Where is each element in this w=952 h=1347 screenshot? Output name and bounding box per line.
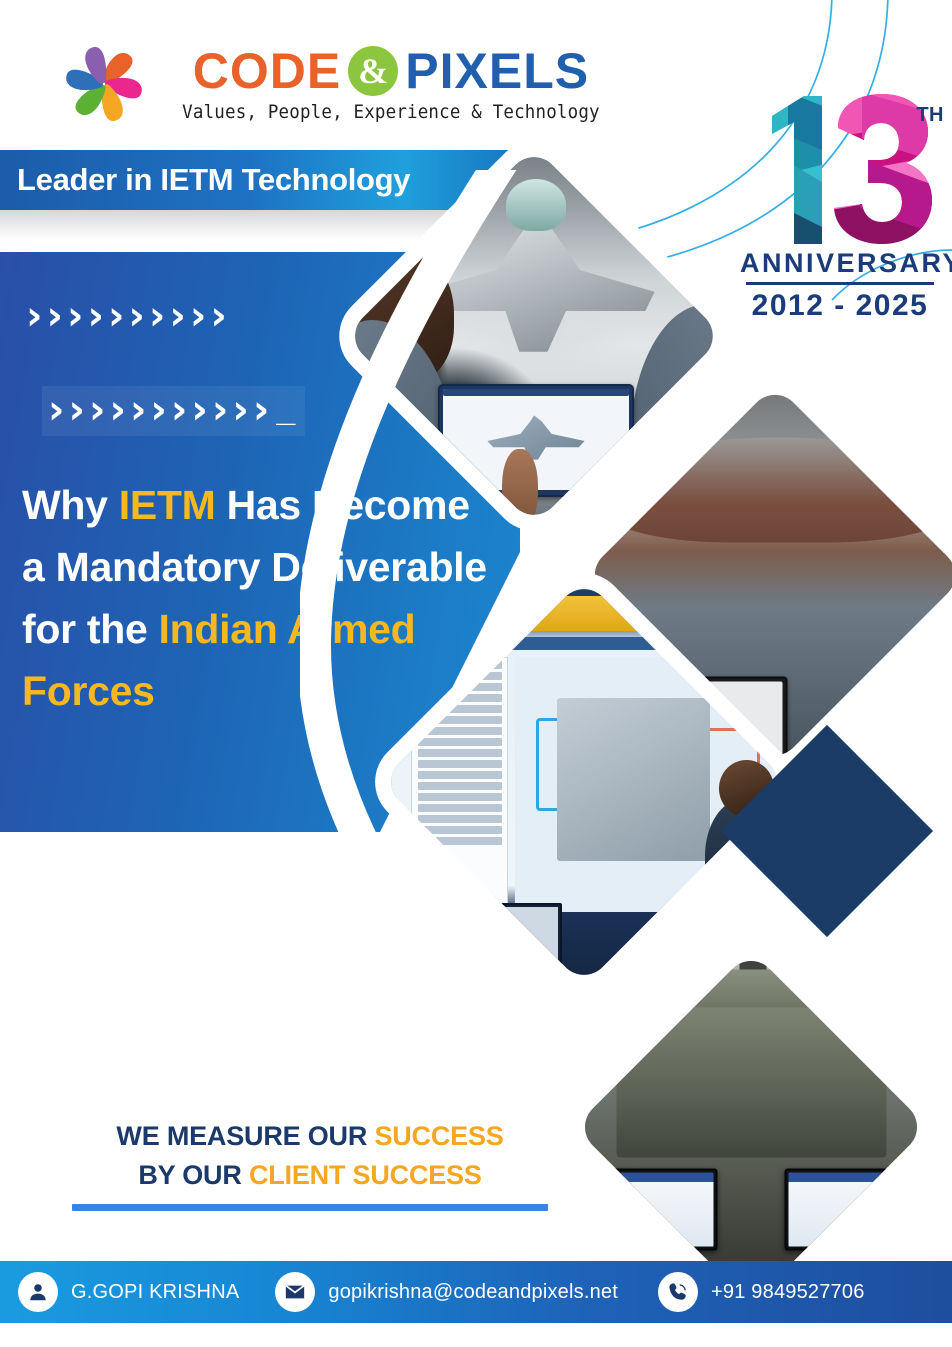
chevron-row-2: ››› ››› ››› ›› _ <box>42 386 305 436</box>
tagline-line-1-highlight: SUCCESS <box>374 1121 503 1151</box>
warning-banner-label: Read <box>503 609 525 619</box>
tagline-line-2-highlight: CLIENT SUCCESS <box>249 1160 482 1190</box>
tagline-line-1-plain: WE MEASURE OUR <box>116 1121 374 1151</box>
headline-part-ietm: IETM <box>119 482 216 528</box>
envelope-icon <box>275 1272 315 1312</box>
chevron-row-2-dash: _ <box>276 391 295 430</box>
anniversary-word: ANNIVERSARY <box>740 248 940 279</box>
jet-canopy <box>506 179 566 231</box>
logo-tagline: Values, People, Experience & Technology <box>182 101 600 123</box>
tank-hull <box>616 1007 886 1157</box>
tagline-line-2-plain: BY OUR <box>138 1160 249 1190</box>
logo-word-code: CODE <box>193 46 341 96</box>
contact-footer: G.GOPI KRISHNA gopikrishna@codeandpixels… <box>0 1261 952 1323</box>
jet-shape <box>421 215 654 352</box>
rugged-screen-left <box>609 1168 718 1251</box>
contact-phone[interactable]: +91 9849527706 <box>658 1272 865 1312</box>
tagline-line-2: BY OUR CLIENT SUCCESS <box>70 1156 550 1195</box>
leader-ribbon: Leader in IETM Technology <box>0 150 560 210</box>
desk-monitor <box>428 903 562 985</box>
headline-part-1: Why <box>22 482 119 528</box>
phone-icon <box>658 1272 698 1312</box>
anniversary-ordinal: TH <box>916 104 944 127</box>
ribbon-label: Leader in IETM Technology <box>17 162 410 198</box>
anniversary-badge: TH ANNIVERSARY 2012 - 2025 <box>740 92 940 323</box>
rugged-screen-right <box>785 1168 894 1251</box>
pinwheel-icon <box>58 38 150 130</box>
logo-ampersand-badge: & <box>348 46 398 96</box>
anniversary-years: 2012 - 2025 <box>740 289 940 323</box>
contact-email-text: gopikrishna@codeandpixels.net <box>328 1281 618 1304</box>
poster-root: CODE & PIXELS Values, People, Experience… <box>0 0 952 1347</box>
logo-word-pixels: PIXELS <box>405 46 589 96</box>
contact-phone-text: +91 9849527706 <box>711 1281 865 1304</box>
photo-army-crew-rugged-tablets-tank <box>574 950 928 1304</box>
tagline-line-1: WE MEASURE OUR SUCCESS <box>70 1117 550 1156</box>
contact-person[interactable]: G.GOPI KRISHNA <box>18 1272 239 1312</box>
contact-email[interactable]: gopikrishna@codeandpixels.net <box>275 1272 618 1312</box>
page-title: Why IETM Has Become a Mandatory Delivera… <box>22 475 492 723</box>
machinery-diagram <box>557 698 710 861</box>
chevron-row-1: ››› ››› ››› › <box>26 296 227 336</box>
anniversary-rule <box>746 282 934 285</box>
person-icon <box>18 1272 58 1312</box>
tagline-block: WE MEASURE OUR SUCCESS BY OUR CLIENT SUC… <box>70 1117 550 1211</box>
anniversary-number: TH <box>740 92 940 252</box>
brand-logo[interactable]: CODE & PIXELS Values, People, Experience… <box>58 38 618 130</box>
tagline-underline <box>72 1204 548 1211</box>
contact-name: G.GOPI KRISHNA <box>71 1281 239 1304</box>
anniversary-number-glyphs <box>742 92 938 252</box>
